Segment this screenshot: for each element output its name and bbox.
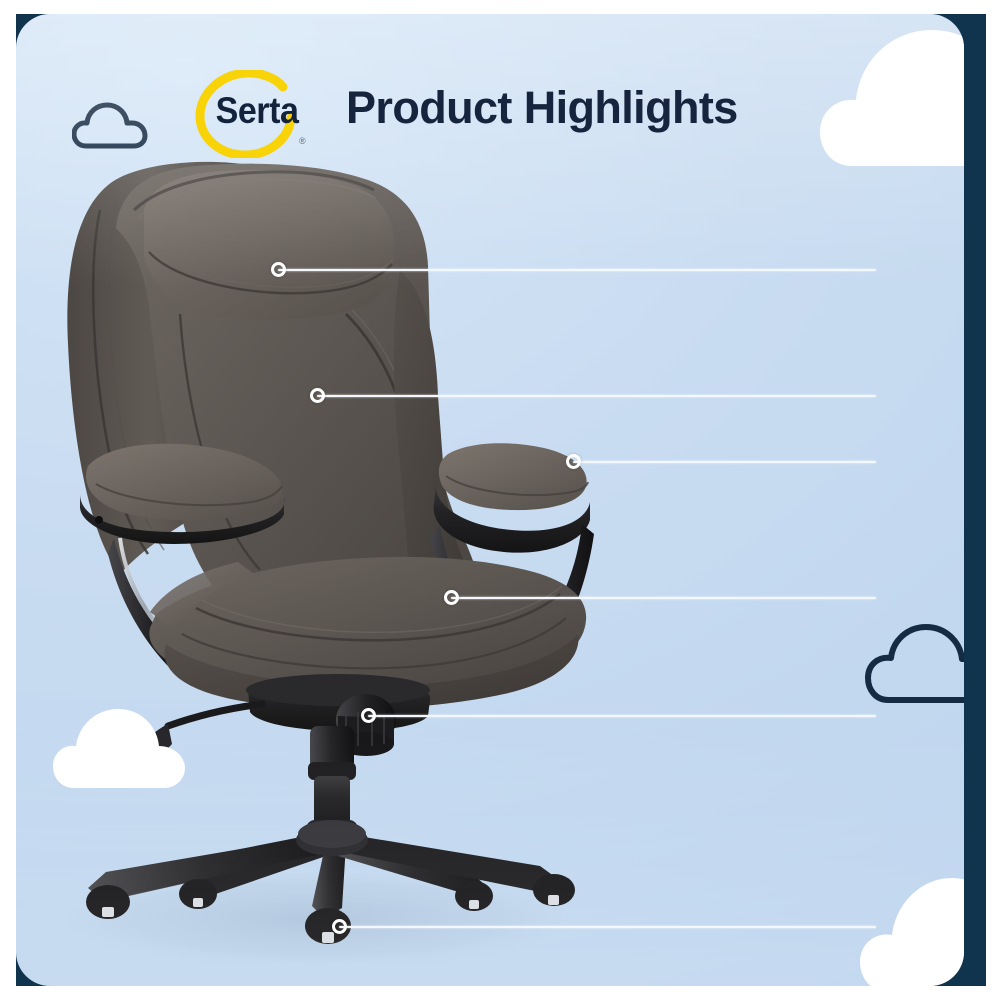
callout-line-cushioned-headrest: [278, 269, 876, 271]
callout-dot-waterfall-seat-edge: [444, 590, 459, 605]
product-highlights-infographic: Serta ® Product Highlights Cushioned Hea…: [0, 0, 1000, 1000]
cloud-solid-top-right: [816, 16, 964, 176]
margin-strip-bottom: [0, 986, 1000, 1000]
callout-line-360-motion: [339, 926, 876, 928]
margin-strip-right: [986, 0, 1000, 1000]
callout-dot-contoured-back-support: [310, 388, 325, 403]
page-title: Product Highlights: [346, 82, 738, 134]
margin-strip-top: [0, 0, 1000, 14]
serta-logo: Serta ®: [189, 66, 317, 162]
cloud-outline-top-left-icon: [72, 100, 148, 152]
callout-line-adjustable-comfort: [368, 715, 876, 717]
callout-dot-adjustable-comfort: [361, 708, 376, 723]
cloud-solid-bottom-left: [52, 704, 188, 794]
content-panel: Serta ® Product Highlights Cushioned Hea…: [16, 14, 964, 986]
serta-wordmark: Serta: [215, 92, 300, 129]
callout-dot-cushioned-headrest: [271, 262, 286, 277]
callout-line-waterfall-seat-edge: [451, 597, 876, 599]
callout-line-contoured-back-support: [317, 395, 876, 397]
cloud-outline-mid-right-icon: [864, 622, 964, 708]
callout-dot-padded-armrests: [566, 454, 581, 469]
registered-trademark-symbol: ®: [299, 136, 306, 146]
margin-strip-left: [0, 0, 16, 1000]
callout-line-padded-armrests: [573, 461, 876, 463]
callout-dot-360-motion: [332, 919, 347, 934]
